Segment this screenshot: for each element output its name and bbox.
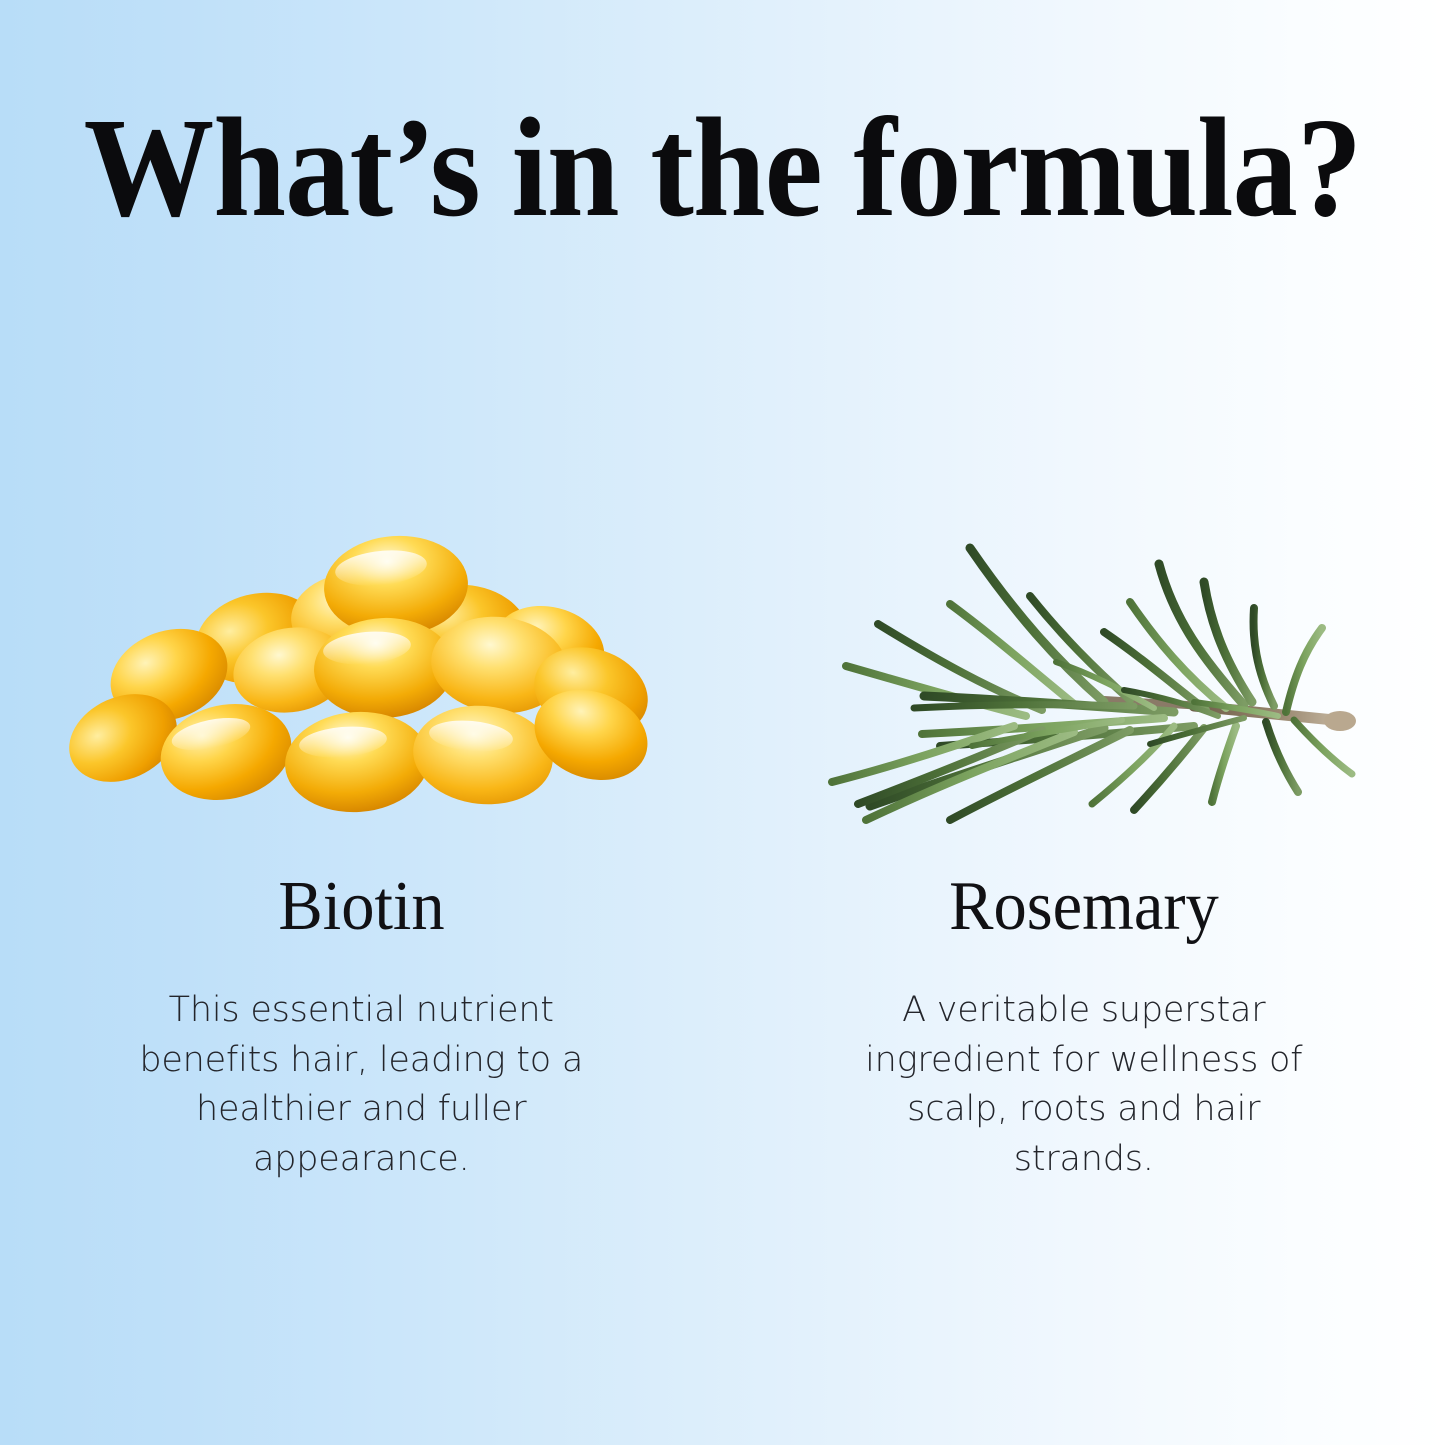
ingredient-card-biotin: Biotin This essential nutrient benefits … [0,490,723,1190]
rosemary-image-slot [774,490,1394,850]
ingredient-name-biotin: Biotin [278,872,444,942]
rosemary-sprig-image [774,520,1394,850]
ingredient-description-biotin: This essential nutrient benefits hair, l… [126,986,596,1185]
ingredient-columns: Biotin This essential nutrient benefits … [0,490,1445,1190]
ingredient-card-rosemary: Rosemary A veritable superstar ingredien… [723,490,1445,1190]
ingredient-infographic: What’s in the formula? [0,0,1445,1445]
ingredient-description-rosemary: A veritable superstar ingredient for wel… [849,986,1319,1185]
ingredient-name-rosemary: Rosemary [949,872,1219,942]
page-title: What’s in the formula? [58,96,1387,238]
biotin-capsules-image [51,520,671,850]
biotin-image-slot [51,490,671,850]
